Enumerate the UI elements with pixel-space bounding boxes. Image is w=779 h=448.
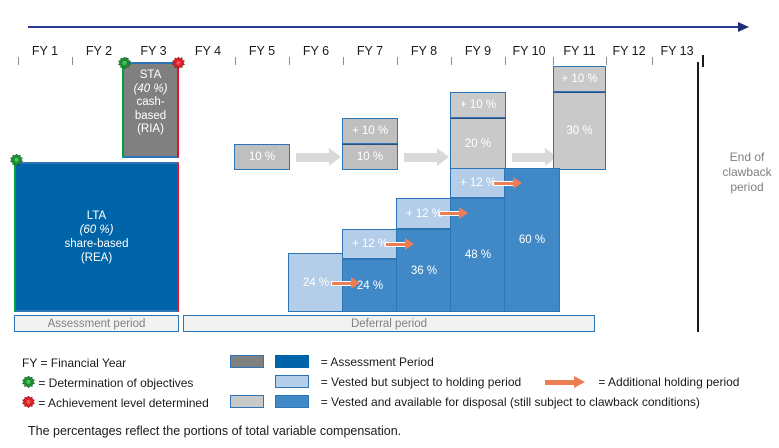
sta-line5: (RIA) bbox=[124, 123, 177, 137]
sta-line3: cash- bbox=[124, 96, 177, 110]
timeline-arrow-head bbox=[738, 22, 749, 32]
lta-line4: (REA) bbox=[81, 251, 112, 265]
fy-tick bbox=[652, 57, 653, 65]
legend-fy-abbrev: FY = Financial Year bbox=[22, 356, 126, 370]
orange-holding-arrow-fy6-fy7 bbox=[331, 277, 363, 289]
gray-arrow-fy9-fy11 bbox=[512, 148, 557, 167]
fy-tick bbox=[18, 57, 19, 65]
fy-tick bbox=[451, 57, 452, 65]
timeline-arrow bbox=[28, 22, 754, 32]
red-achievement-marker-fy3 bbox=[172, 57, 185, 70]
fy-label-5: FY 5 bbox=[235, 44, 289, 58]
gray-bar-fy9-increment: + 10 % bbox=[450, 92, 506, 118]
legend-green-marker-row: = Determination of objectives bbox=[22, 376, 193, 390]
fy-label-10: FY 10 bbox=[505, 44, 553, 58]
timeline-arrow-shaft bbox=[28, 26, 740, 28]
legend-red-marker-row: = Achievement level determined bbox=[22, 396, 209, 410]
fy-tick bbox=[343, 57, 344, 65]
lta-share: (60 %) bbox=[80, 223, 114, 237]
deferral-period-band: Deferral period bbox=[183, 315, 595, 332]
legend-vested-available-row: = Vested and available for disposal (sti… bbox=[230, 395, 700, 409]
legend-additional-holding-label: = Additional holding period bbox=[598, 375, 739, 389]
assessment-period-band: Assessment period bbox=[14, 315, 179, 332]
clawback-line1: End of bbox=[702, 150, 779, 165]
fy-label-2: FY 2 bbox=[72, 44, 126, 58]
blue-bar-fy10-base: 60 % bbox=[504, 168, 560, 312]
fy-label-8: FY 8 bbox=[397, 44, 451, 58]
fy-tick bbox=[235, 57, 236, 65]
fy-label-12: FY 12 bbox=[606, 44, 652, 58]
legend-vested-holding-label: = Vested but subject to holding period bbox=[321, 375, 521, 389]
fy-tick bbox=[72, 57, 73, 65]
fy-label-4: FY 4 bbox=[181, 44, 235, 58]
fy-label-1: FY 1 bbox=[18, 44, 72, 58]
red-marker-icon bbox=[22, 396, 35, 409]
clawback-line3: period bbox=[702, 180, 779, 195]
legend-additional-holding-row: = Additional holding period bbox=[545, 375, 739, 389]
fy-label-7: FY 7 bbox=[343, 44, 397, 58]
sta-line4: based bbox=[124, 110, 177, 124]
fy-tick bbox=[553, 57, 554, 65]
orange-holding-arrow-fy9-fy10 bbox=[493, 177, 525, 189]
swatch-light-blue bbox=[275, 375, 309, 388]
gray-bar-fy7-base: 10 % bbox=[342, 144, 398, 170]
sta-title: STA bbox=[124, 69, 177, 83]
green-objective-marker-fy3 bbox=[118, 57, 131, 70]
gray-arrow-fy7-fy9 bbox=[404, 148, 449, 167]
swatch-mid-blue bbox=[275, 395, 309, 408]
swatch-navy bbox=[275, 355, 309, 368]
gray-bar-fy5-base: 10 % bbox=[234, 144, 290, 170]
fy-label-3: FY 3 bbox=[126, 44, 181, 58]
sta-assessment-block: STA (40 %) cash- based (RIA) bbox=[122, 62, 179, 158]
diagram-canvas: FY 1 FY 2 FY 3 FY 4 FY 5 FY 6 FY 7 FY 8 … bbox=[0, 0, 779, 448]
clawback-end-line bbox=[697, 62, 699, 332]
clawback-line2: clawback bbox=[702, 165, 779, 180]
green-objective-marker-fy1 bbox=[10, 154, 23, 167]
legend-red-marker-label: = Achievement level determined bbox=[38, 396, 208, 410]
legend-vested-holding-row: = Vested but subject to holding period bbox=[230, 375, 521, 389]
gray-arrow-fy5-fy7 bbox=[296, 148, 341, 167]
gray-bar-fy9-base: 20 % bbox=[450, 118, 506, 170]
orange-holding-arrow-fy8-fy9 bbox=[439, 207, 471, 219]
footnote: The percentages reflect the portions of … bbox=[28, 424, 401, 438]
lta-assessment-block: LTA (60 %) share-based (REA) bbox=[14, 162, 179, 312]
swatch-dark-gray bbox=[230, 355, 264, 368]
clawback-end-label: End of clawback period bbox=[702, 150, 779, 195]
legend-green-marker-label: = Determination of objectives bbox=[38, 376, 193, 390]
fy-label-13: FY 13 bbox=[652, 44, 702, 58]
fiscal-year-axis: FY 1 FY 2 FY 3 FY 4 FY 5 FY 6 FY 7 FY 8 … bbox=[0, 44, 779, 68]
fy-tick bbox=[289, 57, 290, 65]
fy-label-11: FY 11 bbox=[553, 44, 606, 58]
gray-bar-fy11-increment: + 10 % bbox=[553, 66, 606, 92]
fy-label-9: FY 9 bbox=[451, 44, 505, 58]
fy-tick bbox=[397, 57, 398, 65]
legend-assessment-label: = Assessment Period bbox=[321, 355, 434, 369]
gray-bar-fy7-increment: + 10 % bbox=[342, 118, 398, 144]
lta-title: LTA bbox=[87, 209, 106, 223]
orange-holding-arrow-fy7-fy8 bbox=[385, 238, 417, 250]
legend-fy-abbrev-label: FY = Financial Year bbox=[22, 356, 126, 370]
gray-bar-fy11-base: 30 % bbox=[553, 92, 606, 170]
fy-tick bbox=[606, 57, 607, 65]
green-marker-icon bbox=[22, 376, 35, 389]
legend-assessment-row: = Assessment Period bbox=[230, 355, 434, 369]
fy-label-6: FY 6 bbox=[289, 44, 343, 58]
legend-vested-available-label: = Vested and available for disposal (sti… bbox=[321, 395, 700, 409]
fy-axis-end-tick bbox=[702, 55, 704, 67]
orange-arrow-icon bbox=[545, 376, 587, 388]
lta-line3: share-based bbox=[65, 237, 129, 251]
fy-tick bbox=[505, 57, 506, 65]
sta-share: (40 %) bbox=[124, 83, 177, 97]
swatch-light-gray bbox=[230, 395, 264, 408]
